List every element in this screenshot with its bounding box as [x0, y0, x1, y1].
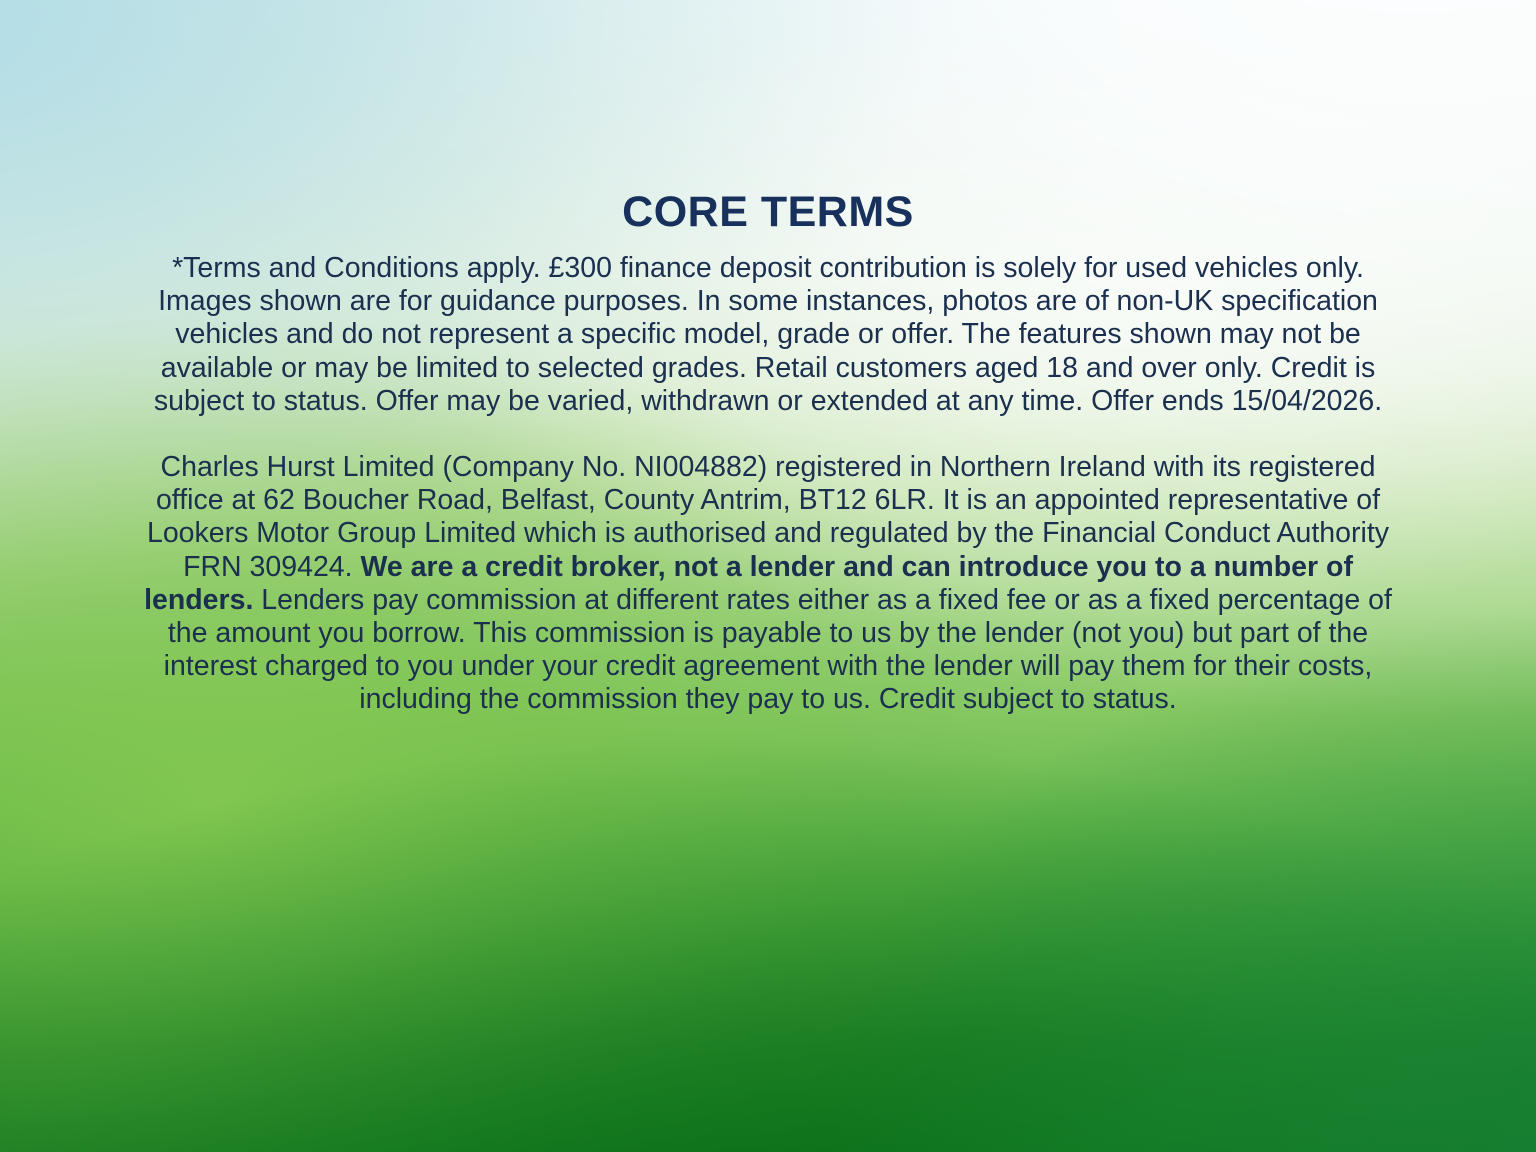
terms-body: *Terms and Conditions apply. £300 financ… [138, 252, 1398, 716]
terms-and-conditions-paragraph: *Terms and Conditions apply. £300 financ… [138, 252, 1398, 418]
company-disclosure-text-part-2: Lenders pay commission at different rate… [164, 584, 1392, 716]
slide-canvas: CORE TERMS *Terms and Conditions apply. … [0, 0, 1536, 1152]
company-disclosure-paragraph: Charles Hurst Limited (Company No. NI004… [138, 451, 1398, 717]
slide-content: CORE TERMS *Terms and Conditions apply. … [0, 0, 1536, 1152]
page-title: CORE TERMS [0, 189, 1536, 236]
